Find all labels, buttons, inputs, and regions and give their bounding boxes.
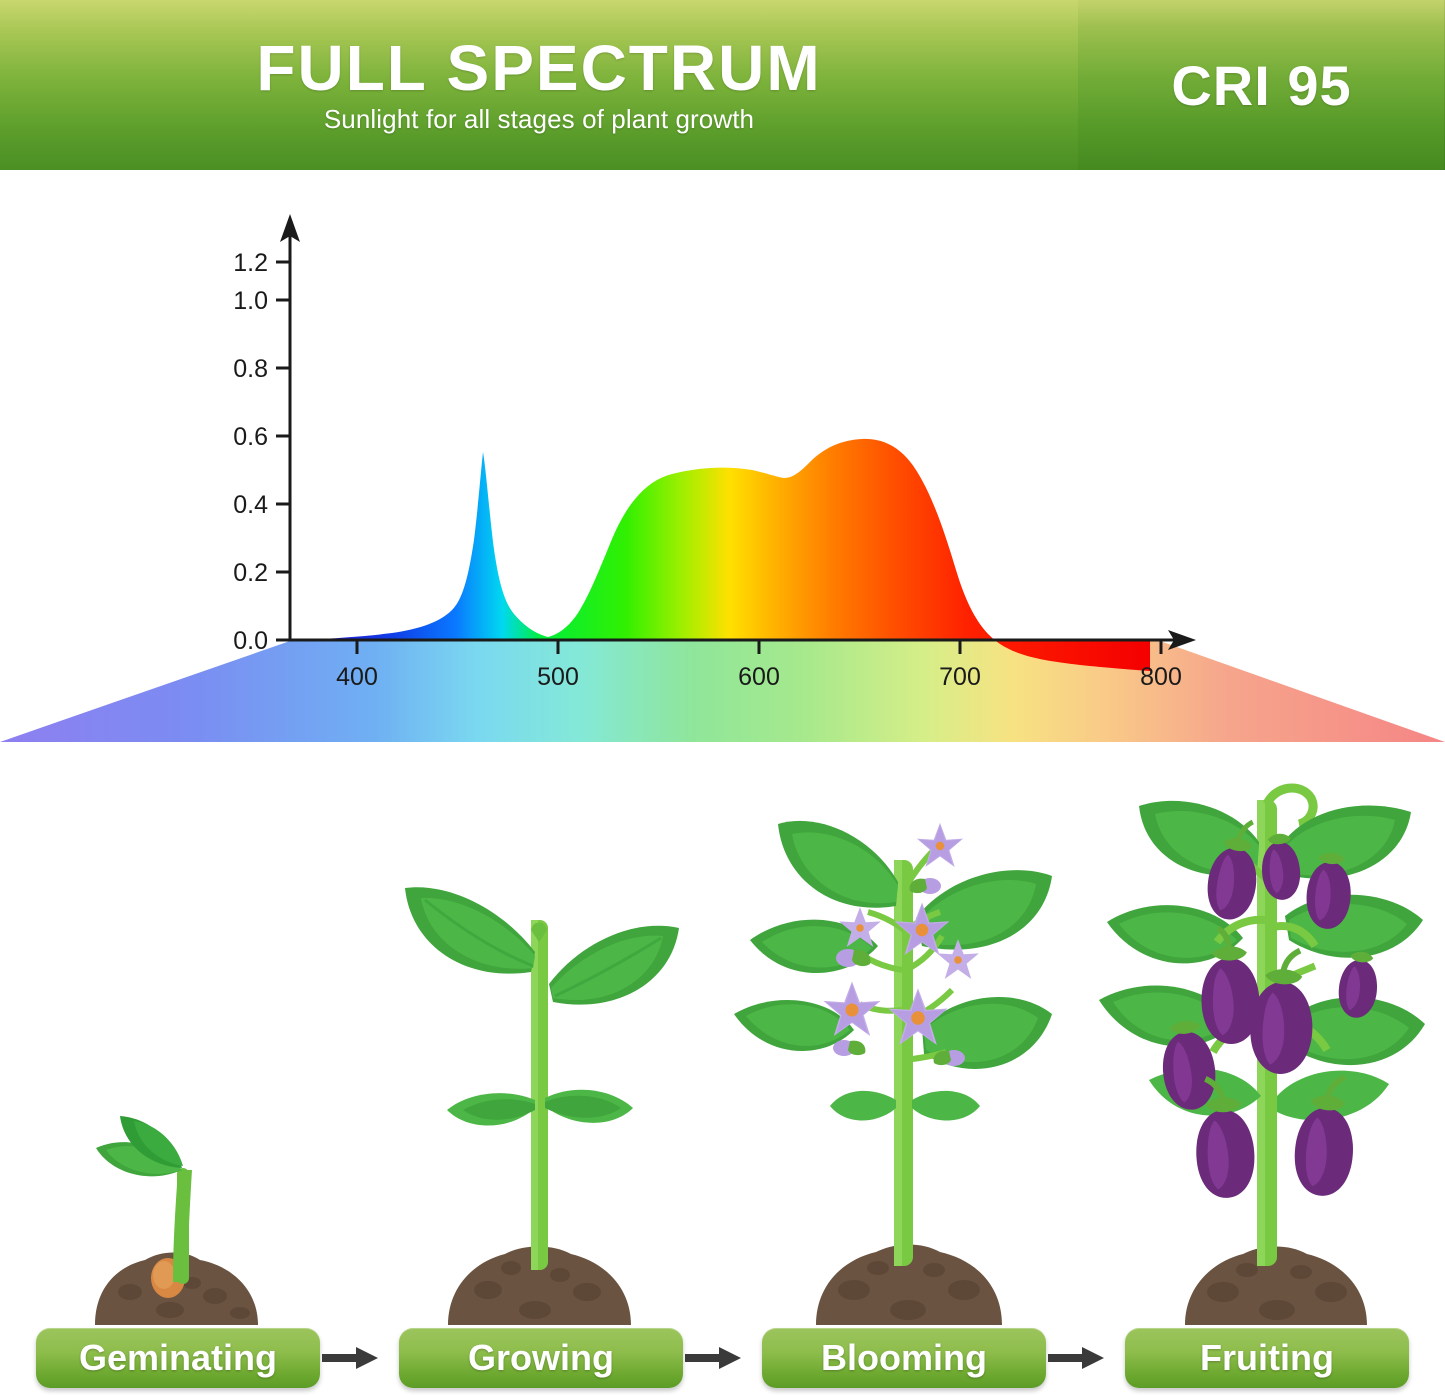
x-tick-label: 600 (738, 663, 780, 691)
cri-badge: CRI 95 (1078, 0, 1445, 170)
y-tick-label: 0.2 (233, 559, 268, 587)
stage-blooming: Blooming (726, 770, 1080, 1395)
header-title-block: FULL SPECTRUM Sunlight for all stages of… (0, 0, 1078, 170)
visible-spectrum-band (0, 641, 1445, 742)
stage-growing: Growing (363, 770, 717, 1395)
stage-button-fruiting[interactable]: Fruiting (1125, 1328, 1409, 1388)
page-subtitle: Sunlight for all stages of plant growth (324, 104, 754, 135)
y-tick-label: 1.2 (233, 249, 268, 277)
header-banner: FULL SPECTRUM Sunlight for all stages of… (0, 0, 1445, 170)
x-tick-label: 800 (1140, 663, 1182, 691)
y-tick-label: 0.8 (233, 355, 268, 383)
y-tick-label: 0.4 (233, 491, 268, 519)
y-tick-label: 0.6 (233, 423, 268, 451)
spectrum-chart: 0.0 0.2 0.4 0.6 0.8 1.0 1.2 400 500 (0, 170, 1445, 770)
page-title: FULL SPECTRUM (256, 35, 821, 102)
young-plant-icon (363, 770, 717, 1325)
x-tick-label: 500 (537, 663, 579, 691)
spectral-power-curve (292, 439, 1150, 671)
stage-geminating: Geminating (0, 770, 354, 1395)
spectrum-chart-svg: 0.0 0.2 0.4 0.6 0.8 1.0 1.2 400 500 (0, 170, 1445, 770)
stage-button-growing[interactable]: Growing (399, 1328, 683, 1388)
growth-stages: Geminating (0, 770, 1445, 1395)
x-tick-label: 700 (939, 663, 981, 691)
y-tick-label: 0.0 (233, 627, 268, 655)
spectrum-infographic-page: FULL SPECTRUM Sunlight for all stages of… (0, 0, 1445, 1395)
x-tick-label: 400 (336, 663, 378, 691)
fruiting-eggplant-icon (1089, 770, 1443, 1325)
y-axis-ticks: 0.0 0.2 0.4 0.6 0.8 1.0 1.2 (233, 249, 290, 655)
sprout-seed-icon (0, 770, 354, 1325)
y-tick-label: 1.0 (233, 287, 268, 315)
stage-fruiting: Fruiting (1089, 770, 1443, 1395)
flowering-eggplant-icon (726, 770, 1080, 1325)
stage-button-geminating[interactable]: Geminating (36, 1328, 320, 1388)
stage-button-blooming[interactable]: Blooming (762, 1328, 1046, 1388)
